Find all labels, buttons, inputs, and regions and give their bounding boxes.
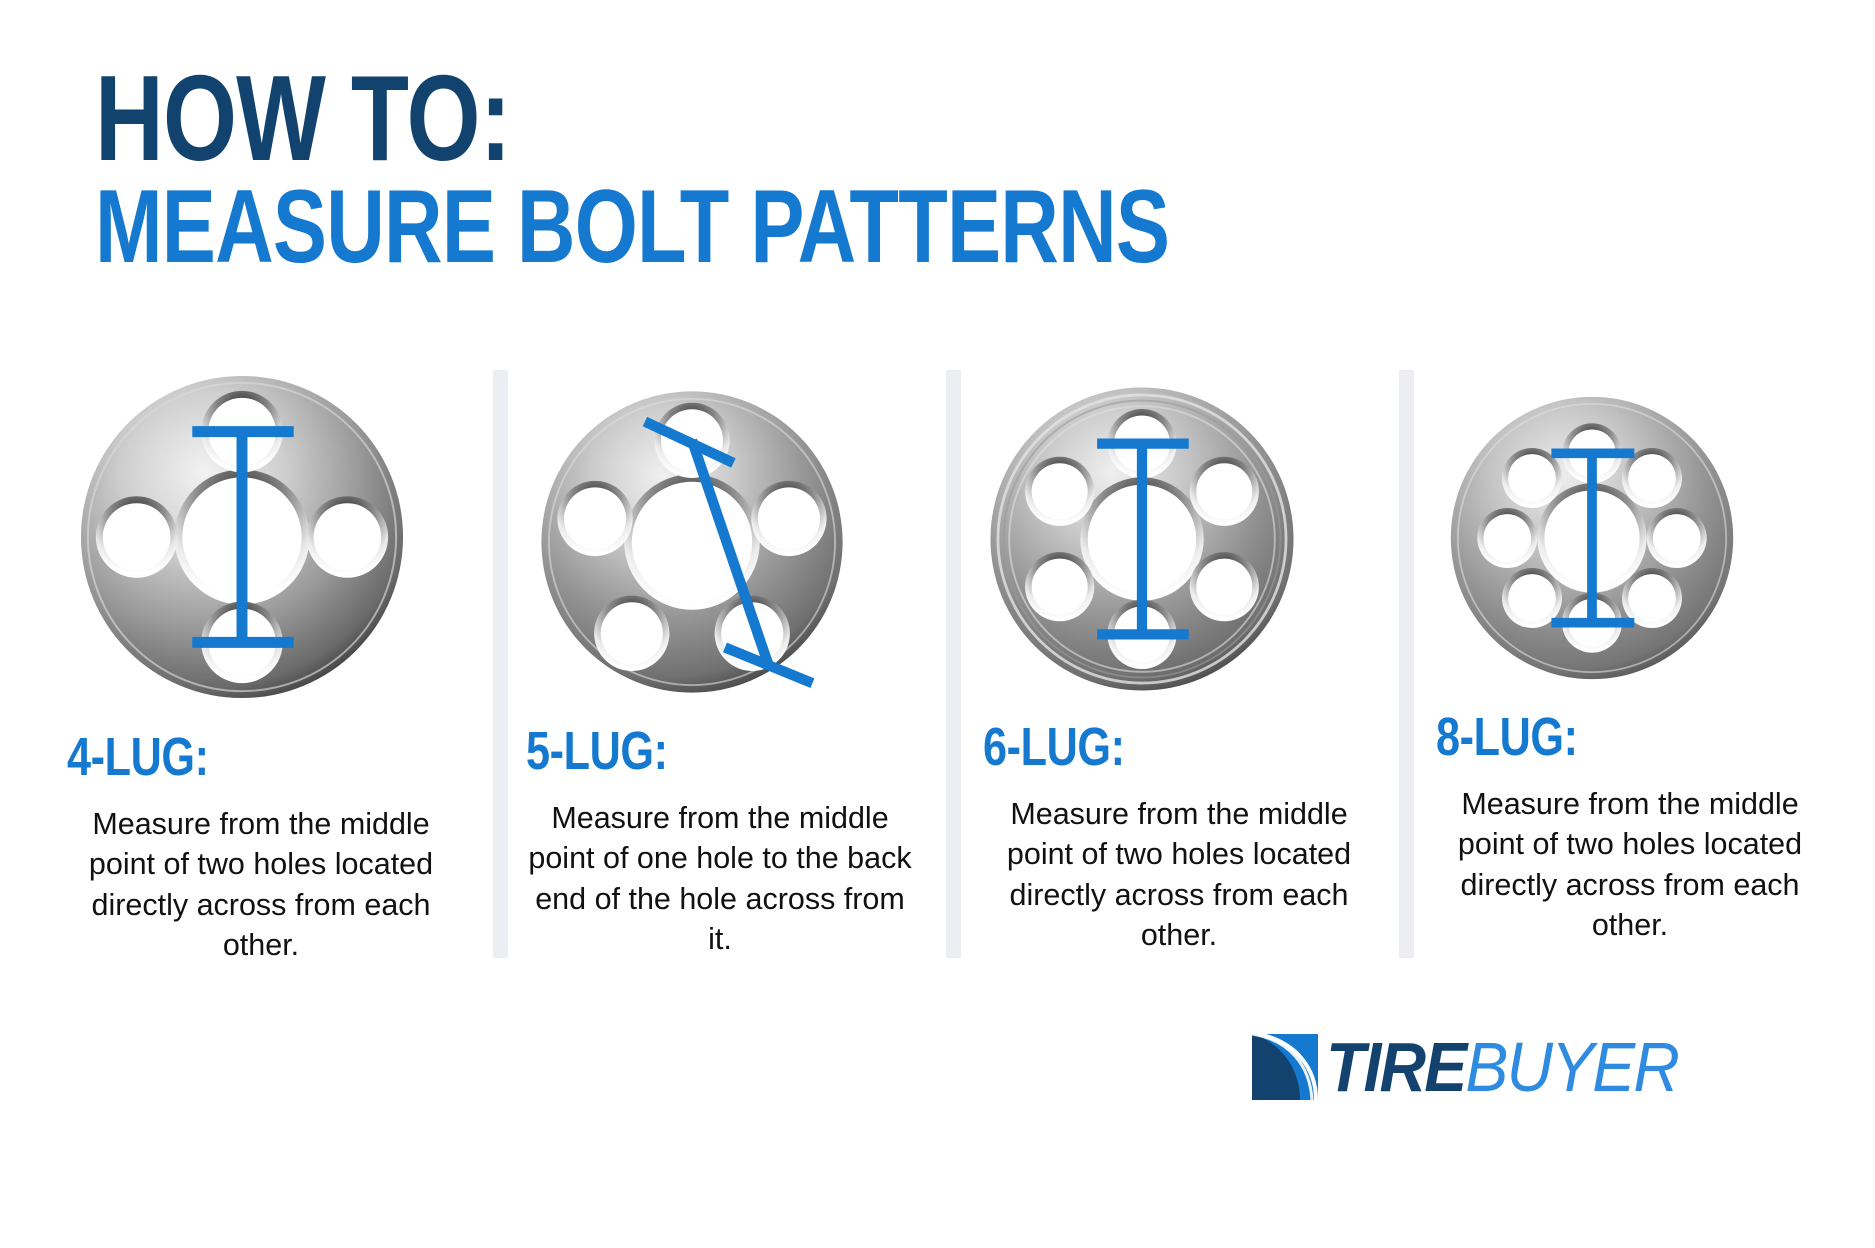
tirebuyer-logo[interactable]: TIREBUYER: [1250, 1030, 1709, 1104]
wheel-svg-4-lug: [73, 370, 411, 708]
body-8-lug: Measure from the middle point of two hol…: [1430, 784, 1830, 945]
title-line-measure-bolt-patterns: MEASURE BOLT PATTERNS: [95, 180, 1169, 276]
logo-text-buyer: BUYER: [1465, 1028, 1678, 1106]
logo-arc-icon: [1250, 1032, 1322, 1102]
label-8-lug: 8-LUG:: [1436, 706, 1763, 768]
label-6-lug: 6-LUG:: [983, 716, 1310, 778]
column-4-lug: 4-LUG: Measure from the middle point of …: [55, 370, 486, 965]
column-5-lug: 5-LUG: Measure from the middle point of …: [508, 370, 939, 959]
tirebuyer-logo-mark-icon: [1250, 1032, 1322, 1102]
column-6-lug: 6-LUG: Measure from the middle point of …: [961, 370, 1392, 955]
divider-bar: [493, 370, 508, 958]
wheel-svg-8-lug: [1442, 388, 1742, 688]
wheel-svg-5-lug: [532, 382, 852, 702]
logo-text-tire: TIRE: [1326, 1028, 1465, 1106]
wheel-diagram-4-lug: [73, 370, 411, 708]
wheel-diagram-6-lug: [983, 380, 1301, 698]
divider-bar: [946, 370, 961, 958]
body-5-lug: Measure from the middle point of one hol…: [520, 798, 920, 959]
column-8-lug: 8-LUG: Measure from the middle point of …: [1414, 370, 1845, 945]
wheel-diagram-8-lug: [1442, 388, 1742, 688]
wheel-diagram-5-lug: [532, 382, 852, 702]
divider-3: [1392, 370, 1414, 990]
divider-1: [486, 370, 508, 990]
label-5-lug: 5-LUG:: [526, 720, 856, 782]
lug-columns: 4-LUG: Measure from the middle point of …: [55, 370, 1845, 990]
tirebuyer-wordmark: TIREBUYER: [1326, 1032, 1678, 1102]
wheel-svg-6-lug: [983, 380, 1301, 698]
divider-bar: [1399, 370, 1414, 958]
body-6-lug: Measure from the middle point of two hol…: [979, 794, 1379, 955]
label-4-lug: 4-LUG:: [67, 726, 402, 788]
body-4-lug: Measure from the middle point of two hol…: [61, 804, 461, 965]
divider-2: [939, 370, 961, 990]
page-title: HOW TO: MEASURE BOLT PATTERNS: [95, 62, 1472, 276]
title-line-how-to: HOW TO:: [95, 62, 1169, 174]
